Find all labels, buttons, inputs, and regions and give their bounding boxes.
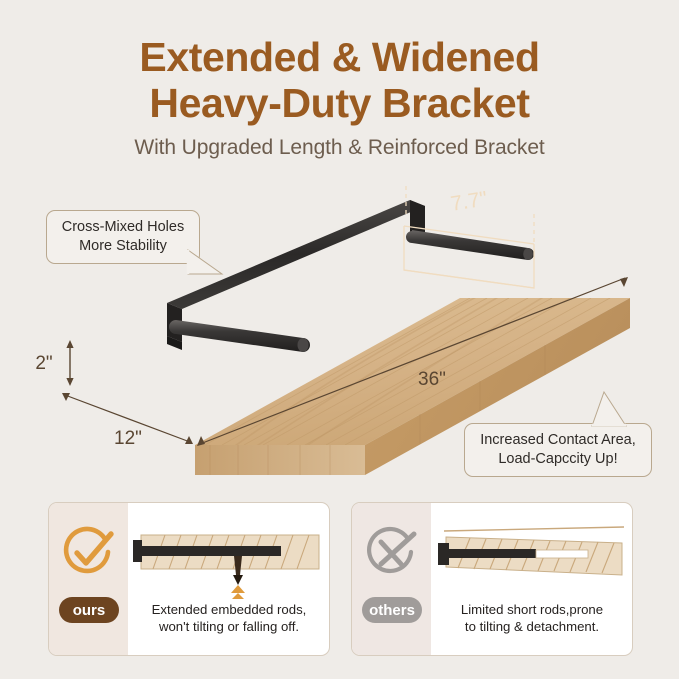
shelf-front-edge [195,445,365,475]
dimension-depth-label: 12" [114,428,142,449]
dimension-thickness-label: 2" [35,353,52,374]
callout-cross-mixed-holes: Cross-Mixed Holes More Stability [46,210,200,264]
callout-right-line-2: Load-Capccity Up! [480,450,636,469]
callout-left-line-1: Cross-Mixed Holes [62,218,184,237]
product-infographic: Extended & Widened Heavy-Duty Bracket Wi… [0,0,679,679]
circle-check-icon [61,525,117,581]
ours-caption: Extended embedded rods, won't tilting or… [133,601,325,635]
callout-right-tail [578,392,638,438]
ours-rod-diagram [133,513,325,599]
badge-ours: ours [59,597,119,623]
title-line-1: Extended & Widened [0,34,679,80]
subtitle: With Upgraded Length & Reinforced Bracke… [0,136,679,160]
dimension-width-label: 36" [418,369,446,390]
comparison-panel-ours: ours Extended embedded rods, won't tilti… [48,502,330,656]
others-caption-line-1: Limited short rods,prone [436,601,628,618]
others-rod-diagram [436,513,628,599]
circle-x-icon [364,525,420,581]
support-rod-front [169,320,310,352]
dimension-rod-length-label: 7.7" [449,187,489,215]
title-line-2: Heavy-Duty Bracket [0,80,679,126]
ours-caption-line-1: Extended embedded rods, [133,601,325,618]
others-caption-line-2: to tilting & detachment. [436,618,628,635]
dimension-thickness [66,340,73,386]
ours-caption-line-2: won't tilting or falling off. [133,618,325,635]
callout-left-tail [188,250,248,296]
callout-left-line-2: More Stability [62,237,184,256]
others-caption: Limited short rods,prone to tilting & de… [436,601,628,635]
comparison-panel-others: others Limited short rods,prone to tilti… [351,502,633,656]
badge-others: others [362,597,422,623]
